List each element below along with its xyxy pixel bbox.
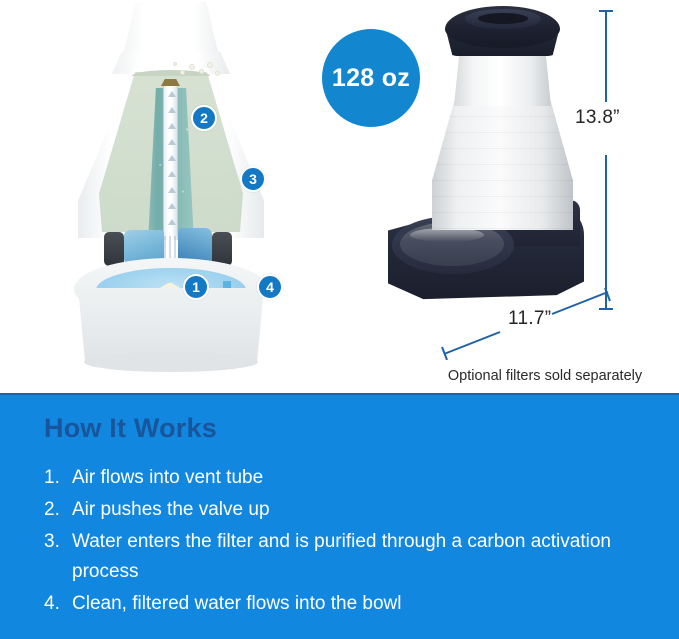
- step-text: Air pushes the valve up: [72, 495, 624, 526]
- vent-tube: [163, 84, 178, 240]
- width-cap-right: [605, 288, 610, 301]
- width-line-left: [444, 332, 500, 354]
- photo-bottle-ribs: [432, 100, 573, 230]
- photo-bowl-highlight: [410, 228, 484, 242]
- height-dimension-line: [605, 10, 607, 310]
- step-number: 2.: [44, 495, 72, 526]
- air-bubble-icon: [180, 70, 185, 75]
- step-item: 4. Clean, filtered water flows into the …: [44, 589, 624, 620]
- step-item: 2. Air pushes the valve up: [44, 495, 624, 526]
- step-number: 4.: [44, 589, 72, 620]
- filters-caption: Optional filters sold separately: [420, 368, 670, 384]
- vent-up-arrow-icon: [164, 154, 179, 163]
- how-it-works-steps: 1. Air flows into vent tube 2. Air pushe…: [44, 463, 624, 621]
- product-photo: [370, 0, 600, 330]
- callout-badge-1[interactable]: 1: [183, 274, 209, 300]
- vent-up-arrow-icon: [164, 170, 179, 179]
- step-text: Clean, filtered water flows into the bow…: [72, 589, 624, 620]
- air-bubble-icon: [173, 62, 177, 66]
- callout-badge-2[interactable]: 2: [191, 105, 217, 131]
- how-it-works-title: How It Works: [44, 413, 217, 444]
- dimension-segment-lower: [605, 155, 607, 310]
- step-item: 3. Water enters the filter and is purifi…: [44, 527, 624, 589]
- product-showcase-area: 1 2 3 4 128 oz 13.8”: [0, 0, 679, 393]
- grip-left: [104, 232, 124, 266]
- width-dimension-label: 11.7”: [508, 308, 551, 330]
- callout-badge-3[interactable]: 3: [240, 166, 266, 192]
- vent-up-arrow-icon: [164, 186, 179, 195]
- step-item: 1. Air flows into vent tube: [44, 463, 624, 494]
- photo-bottle-neck: [454, 48, 551, 106]
- air-bubble-icon: [199, 69, 204, 74]
- vent-up-arrow-icon: [164, 106, 179, 115]
- step-number: 3.: [44, 527, 72, 589]
- vent-up-arrow-icon: [164, 202, 179, 211]
- air-bubble-icon: [215, 71, 220, 76]
- step-text: Water enters the filter and is purified …: [72, 527, 624, 589]
- air-bubble-icon: [189, 64, 195, 70]
- base-bottom: [84, 352, 258, 372]
- vent-up-arrow-icon: [164, 218, 179, 227]
- photo-lid-opening: [478, 13, 528, 24]
- dimension-segment-upper: [605, 10, 607, 102]
- vent-up-arrow-icon: [164, 90, 179, 99]
- bottle-neck-shape: [122, 2, 220, 60]
- step-number: 1.: [44, 463, 72, 494]
- cutaway-diagram: 1 2 3 4: [60, 0, 280, 372]
- vent-up-arrow-icon: [164, 122, 179, 131]
- vent-up-arrow-icon: [164, 138, 179, 147]
- air-bubble-icon: [207, 62, 213, 68]
- height-dimension-label: 13.8”: [575, 107, 645, 129]
- callout-badge-4[interactable]: 4: [257, 274, 283, 300]
- step-text: Air flows into vent tube: [72, 463, 624, 494]
- how-it-works-banner: How It Works 1. Air flows into vent tube…: [0, 393, 679, 639]
- width-line-right: [552, 292, 608, 314]
